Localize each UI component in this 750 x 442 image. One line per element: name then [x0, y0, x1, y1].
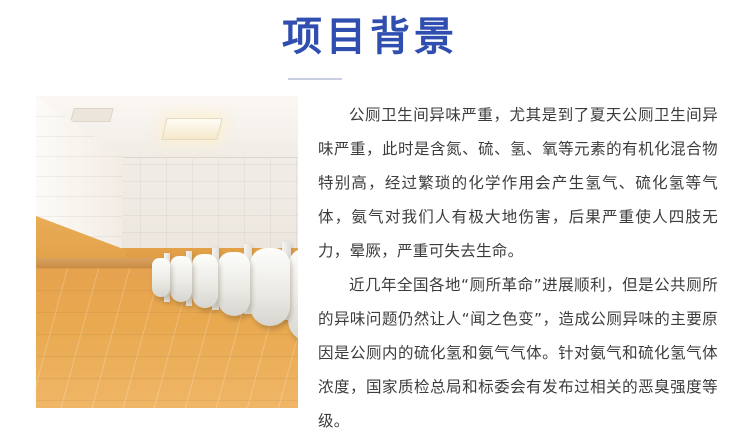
page-root: 项目背景: [0, 0, 750, 442]
photo-frame: [36, 96, 298, 408]
urinal-4: [192, 254, 218, 308]
urinal-2: [250, 248, 290, 326]
title-divider: [288, 78, 342, 80]
page-title: 项目背景: [282, 12, 702, 62]
urinal-3: [218, 252, 250, 316]
ceiling-light-icon: [161, 118, 222, 140]
ceiling-vent-icon: [70, 108, 113, 122]
urinal-5: [170, 256, 192, 302]
background-description: 公厕卫生间异味严重，尤其是到了夏天公厕卫生间异味严重，此时是含氮、硫、氢、氧等元…: [318, 98, 718, 438]
title-block: 项目背景: [282, 12, 702, 80]
paragraph-1: 公厕卫生间异味严重，尤其是到了夏天公厕卫生间异味严重，此时是含氮、硫、氢、氧等元…: [318, 98, 718, 268]
paragraph-2: 近几年全国各地“厕所革命”进展顺利，但是公共厕所的异味问题仍然让人“闻之色变”，…: [318, 268, 718, 438]
urinal-6: [152, 258, 170, 297]
restroom-photo: [36, 96, 298, 408]
